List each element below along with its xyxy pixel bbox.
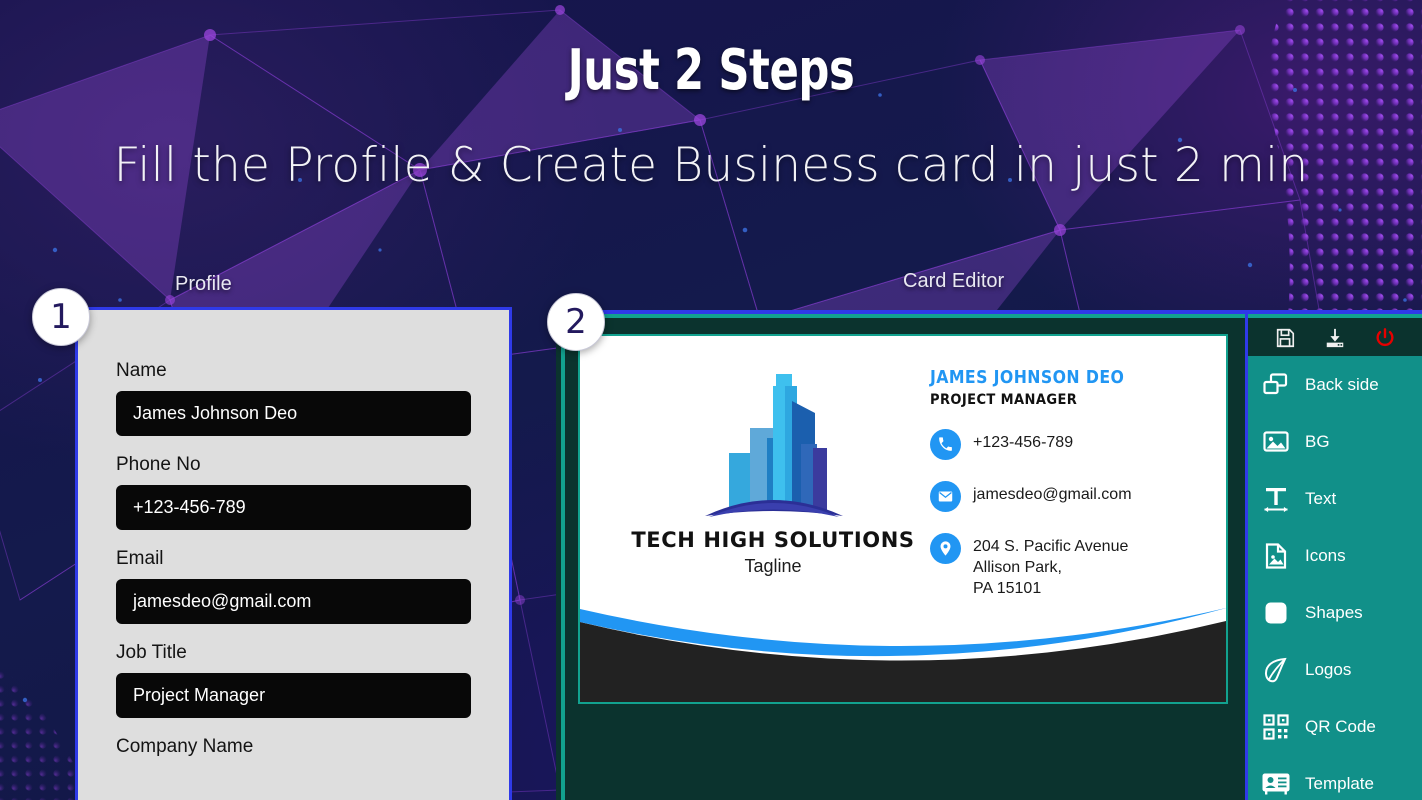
contact-phone-text: +123-456-789 <box>973 429 1073 454</box>
profile-caption: Profile <box>175 273 232 296</box>
tool-item-qr-code[interactable]: QR Code <box>1248 698 1422 755</box>
editor-right-edge <box>1245 310 1248 800</box>
tool-label-shapes: Shapes <box>1305 603 1363 623</box>
tool-label-qr-code: QR Code <box>1305 717 1376 737</box>
qr-code-icon <box>1260 711 1292 743</box>
name-input[interactable]: James Johnson Deo <box>116 391 471 436</box>
tool-item-logos[interactable]: Logos <box>1248 641 1422 698</box>
card-job-title: PROJECT MANAGER <box>930 392 1215 408</box>
leaf-icon <box>1260 654 1292 686</box>
field-label-phone: Phone No <box>116 454 471 476</box>
save-icon[interactable] <box>1272 326 1298 350</box>
icons-icon <box>1260 540 1292 572</box>
phone-input[interactable]: +123-456-789 <box>116 485 471 530</box>
email-input[interactable]: jamesdeo@gmail.com <box>116 579 471 624</box>
editor-tool-sidebar: Back side BG Text <box>1248 320 1422 800</box>
image-icon <box>1260 426 1292 458</box>
card-editor-caption: Card Editor <box>903 270 1004 293</box>
tool-item-template[interactable]: Template <box>1248 755 1422 800</box>
tool-item-shapes[interactable]: Shapes <box>1248 584 1422 641</box>
editor-left-stripe <box>556 318 565 800</box>
editor-action-bar <box>1248 320 1422 356</box>
tool-item-icons[interactable]: Icons <box>1248 527 1422 584</box>
business-card-canvas[interactable]: TECH HIGH SOLUTIONS Tagline JAMES JOHNSO… <box>578 334 1228 704</box>
contact-address-text: 204 S. Pacific Avenue Allison Park, PA 1… <box>973 533 1128 599</box>
field-label-job-title: Job Title <box>116 642 471 664</box>
page-title: Just 2 Steps <box>100 38 1323 103</box>
tool-label-icons: Icons <box>1305 546 1346 566</box>
step-badge-1: 1 <box>32 288 90 346</box>
template-icon <box>1260 768 1292 800</box>
card-wave-decoration <box>580 592 1228 702</box>
tool-label-back-side: Back side <box>1305 375 1379 395</box>
back-side-icon <box>1260 369 1292 401</box>
tool-label-logos: Logos <box>1305 660 1351 680</box>
tool-item-text[interactable]: Text <box>1248 470 1422 527</box>
shapes-icon <box>1260 597 1292 629</box>
tool-label-bg: BG <box>1305 432 1330 452</box>
card-info-block: JAMES JOHNSON DEO PROJECT MANAGER +123-4… <box>930 368 1215 599</box>
page-subtitle: Fill the Profile & Create Business card … <box>0 138 1422 193</box>
envelope-icon <box>930 481 961 512</box>
card-logo-block: TECH HIGH SOLUTIONS Tagline <box>628 356 918 577</box>
phone-icon <box>930 429 961 460</box>
tool-label-template: Template <box>1305 774 1374 794</box>
tool-item-bg[interactable]: BG <box>1248 413 1422 470</box>
job-title-input[interactable]: Project Manager <box>116 673 471 718</box>
field-label-company-name: Company Name <box>116 736 471 758</box>
editor-top-stripe <box>556 314 1422 318</box>
power-icon[interactable] <box>1372 326 1398 350</box>
card-tagline: Tagline <box>628 556 918 577</box>
field-label-name: Name <box>116 360 471 382</box>
step-badge-2: 2 <box>547 293 605 351</box>
contact-email-text: jamesdeo@gmail.com <box>973 481 1132 506</box>
card-person-name: JAMES JOHNSON DEO <box>930 368 1215 388</box>
contact-row-email: jamesdeo@gmail.com <box>930 481 1215 512</box>
tool-label-text: Text <box>1305 489 1336 509</box>
text-icon <box>1260 483 1292 515</box>
profile-panel: Name James Johnson Deo Phone No +123-456… <box>75 307 512 800</box>
card-company-name: TECH HIGH SOLUTIONS <box>628 528 918 552</box>
contact-row-address: 204 S. Pacific Avenue Allison Park, PA 1… <box>930 533 1215 599</box>
building-logo-icon <box>673 356 873 526</box>
download-icon[interactable] <box>1322 326 1348 350</box>
contact-row-phone: +123-456-789 <box>930 429 1215 460</box>
field-label-email: Email <box>116 548 471 570</box>
tool-item-back-side[interactable]: Back side <box>1248 356 1422 413</box>
promo-screenshot: Just 2 Steps Fill the Profile & Create B… <box>0 0 1422 800</box>
location-pin-icon <box>930 533 961 564</box>
